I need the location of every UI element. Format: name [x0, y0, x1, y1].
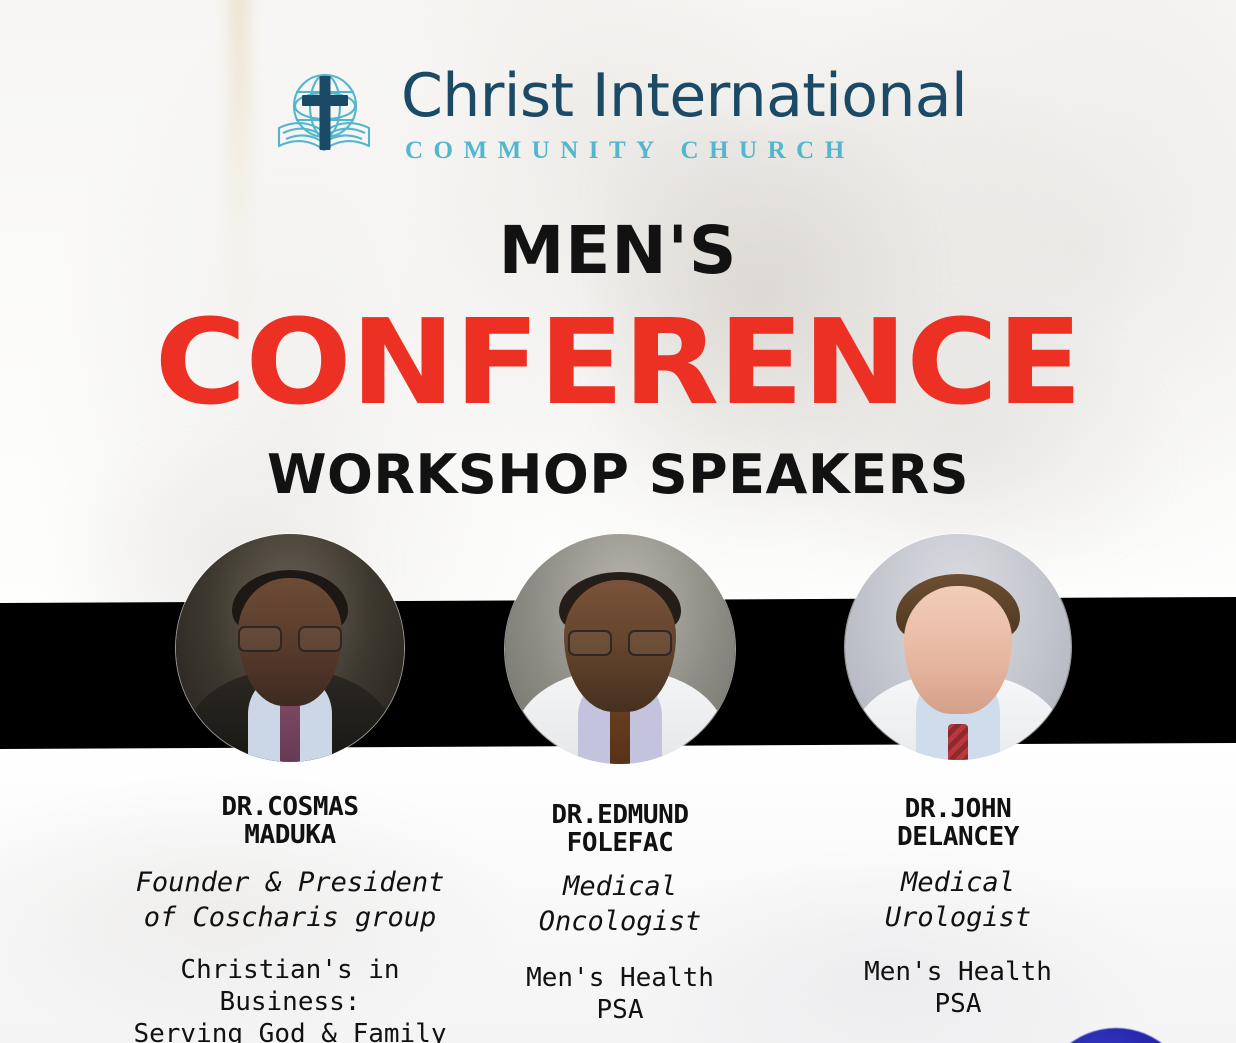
mens-conference-flyer: Christ International COMMUNITY CHURCH ME… — [0, 0, 1236, 1043]
brand-name-secondary: COMMUNITY CHURCH — [405, 138, 967, 163]
headline-mens: MEN'S — [0, 218, 1236, 284]
speakers-row: DR.COSMAS MADUKA Founder & President of … — [0, 534, 1236, 1043]
brand-logo-lockup: Christ International COMMUNITY CHURCH — [0, 62, 1236, 166]
headline-workshop-speakers: WORKSHOP SPEAKERS — [0, 448, 1236, 502]
speaker-role: Founder & President of Coscharis group — [122, 865, 458, 935]
speaker-name: DR.JOHN DELANCEY — [790, 796, 1126, 851]
speaker-role: Medical Oncologist — [452, 869, 788, 939]
speaker-photo-cosmas-maduka — [176, 534, 404, 762]
speaker-role: Medical Urologist — [790, 865, 1126, 935]
speaker-name: DR.COSMAS MADUKA — [122, 794, 458, 849]
brand-name-primary: Christ International — [401, 66, 967, 126]
speaker-name: DR.EDMUND FOLEFAC — [452, 802, 788, 857]
speaker-card: DR.EDMUND FOLEFAC Medical Oncologist Men… — [452, 534, 788, 1027]
speaker-photo-john-delancey — [845, 534, 1071, 760]
headline-block: MEN'S CONFERENCE WORKSHOP SPEAKERS — [0, 218, 1236, 502]
globe-cross-book-icon — [269, 62, 381, 166]
speaker-card: DR.COSMAS MADUKA Founder & President of … — [122, 534, 458, 1043]
speaker-photo-edmund-folefac — [505, 534, 735, 764]
speaker-topic: Men's Health PSA — [452, 963, 788, 1026]
speaker-topic: Men's Health PSA — [790, 957, 1126, 1020]
brand-wordmark: Christ International COMMUNITY CHURCH — [401, 66, 967, 163]
headline-conference: CONFERENCE — [0, 302, 1236, 422]
speaker-card: DR.JOHN DELANCEY Medical Urologist Men's… — [790, 534, 1126, 1021]
speaker-topic: Christian's in Business: Serving God & F… — [122, 955, 458, 1043]
